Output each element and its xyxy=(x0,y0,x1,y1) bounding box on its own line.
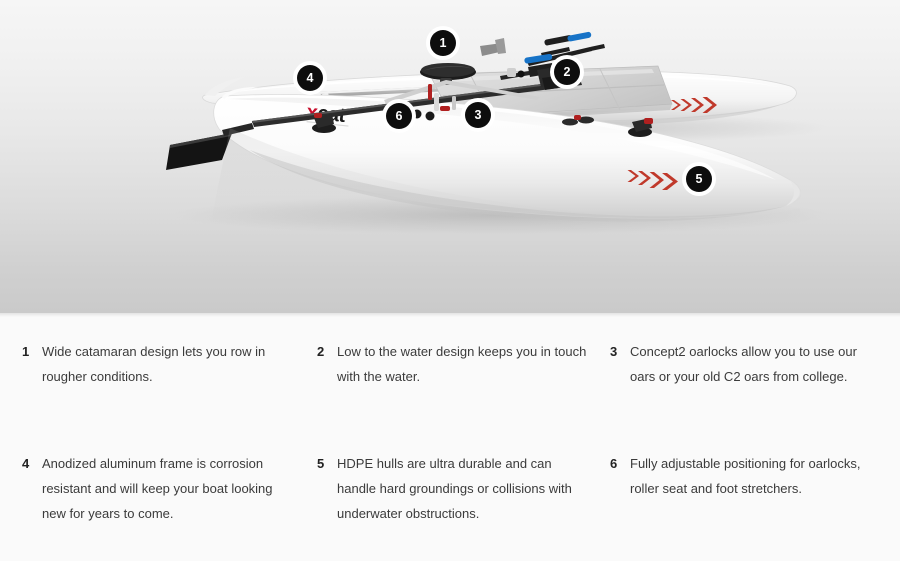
feature-item-5: 5 HDPE hulls are ultra durable and can h… xyxy=(317,451,610,526)
feature-item-1: 1 Wide catamaran design lets you row in … xyxy=(22,339,317,389)
feature-item-3-text: Concept2 oarlocks allow you to use our o… xyxy=(630,339,880,389)
feature-item-1-number: 1 xyxy=(22,339,42,364)
feature-item-2: 2 Low to the water design keeps you in t… xyxy=(317,339,610,389)
feature-item-6-text: Fully adjustable positioning for oarlock… xyxy=(630,451,880,501)
callout-badge-5[interactable]: 5 xyxy=(686,166,712,192)
feature-item-6: 6 Fully adjustable positioning for oarlo… xyxy=(610,451,900,526)
feature-item-4-text: Anodized aluminum frame is corrosion res… xyxy=(42,451,295,526)
feature-item-4: 4 Anodized aluminum frame is corrosion r… xyxy=(22,451,317,526)
callout-badge-3-label: 3 xyxy=(475,109,482,122)
callout-badge-3[interactable]: 3 xyxy=(465,102,491,128)
hero-product-image: x cat xyxy=(0,0,900,313)
callout-badge-2[interactable]: 2 xyxy=(554,59,580,85)
feature-item-5-text: HDPE hulls are ultra durable and can han… xyxy=(337,451,588,526)
callout-badge-2-label: 2 xyxy=(564,66,571,79)
callout-badge-5-label: 5 xyxy=(696,173,703,186)
callout-badge-1[interactable]: 1 xyxy=(430,30,456,56)
feature-item-3: 3 Concept2 oarlocks allow you to use our… xyxy=(610,339,900,389)
feature-list-section: 1 Wide catamaran design lets you row in … xyxy=(0,317,900,561)
feature-grid: 1 Wide catamaran design lets you row in … xyxy=(0,339,900,526)
product-feature-page: x cat xyxy=(0,0,900,561)
callout-badge-1-label: 1 xyxy=(440,37,447,50)
feature-item-5-number: 5 xyxy=(317,451,337,476)
callout-badge-4[interactable]: 4 xyxy=(297,65,323,91)
callout-badge-6[interactable]: 6 xyxy=(386,103,412,129)
feature-item-2-text: Low to the water design keeps you in tou… xyxy=(337,339,588,389)
callout-badge-4-label: 4 xyxy=(307,72,314,85)
feature-item-1-text: Wide catamaran design lets you row in ro… xyxy=(42,339,295,389)
feature-item-2-number: 2 xyxy=(317,339,337,364)
feature-item-3-number: 3 xyxy=(610,339,630,364)
callout-badge-6-label: 6 xyxy=(396,110,403,123)
feature-item-4-number: 4 xyxy=(22,451,42,476)
feature-item-6-number: 6 xyxy=(610,451,630,476)
